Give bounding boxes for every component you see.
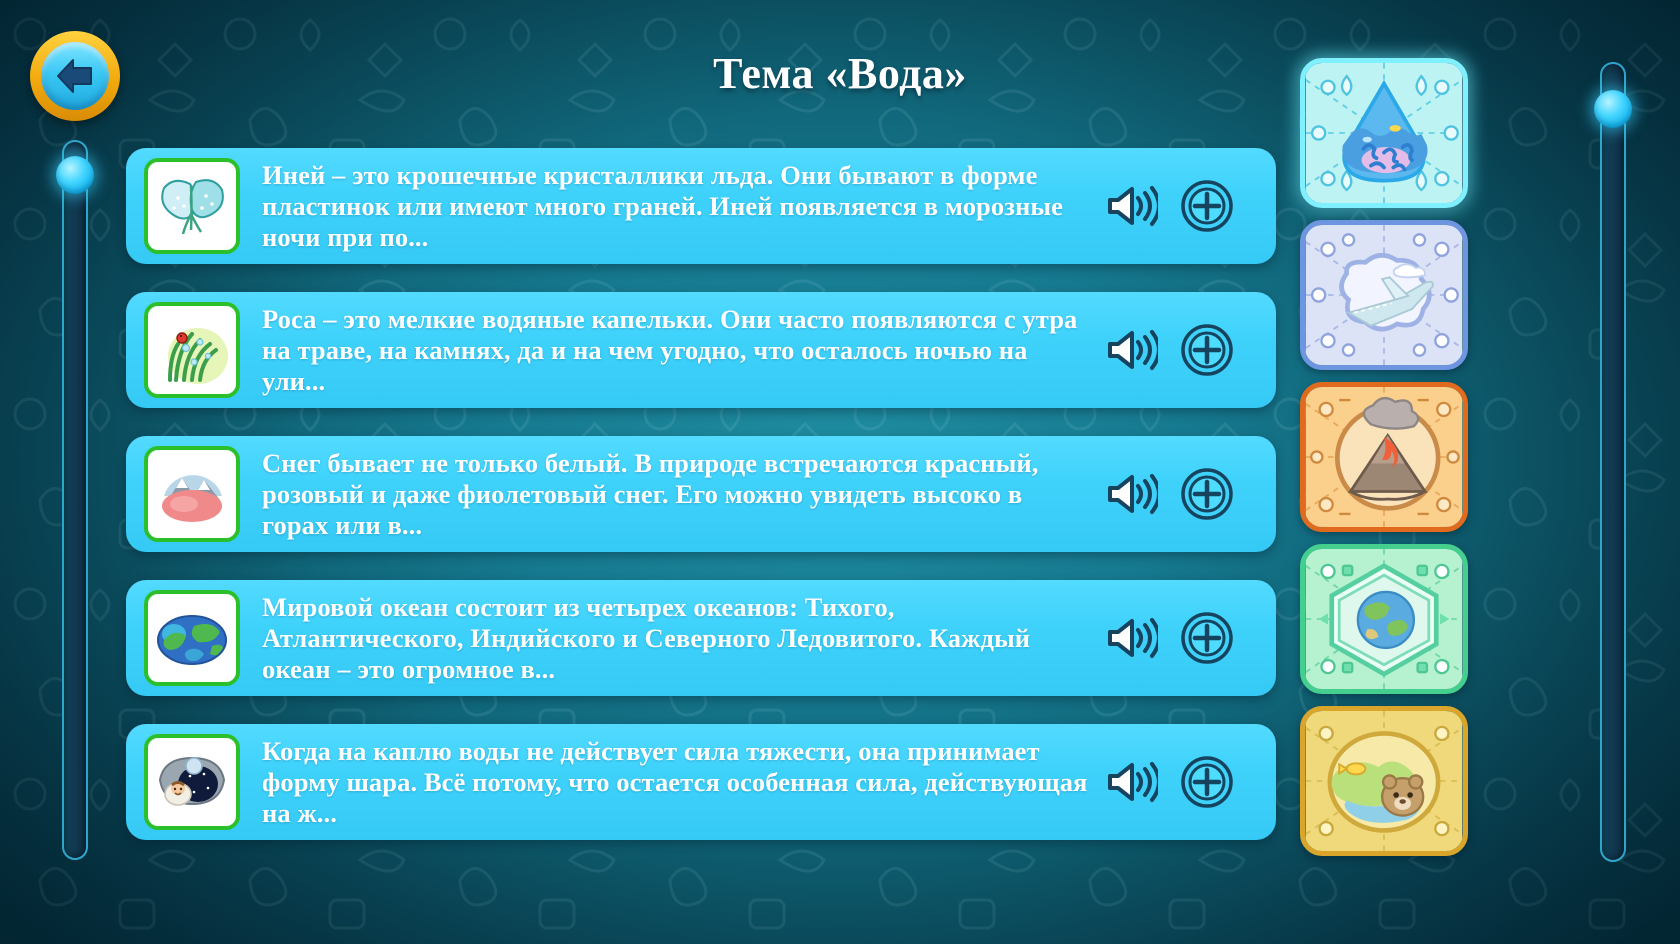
fact-thumbnail bbox=[144, 302, 240, 398]
add-button[interactable] bbox=[1180, 179, 1234, 233]
speaker-icon bbox=[1102, 470, 1158, 518]
volcano-topic-icon bbox=[1305, 387, 1463, 527]
fact-text: Мировой океан состоит из четырех океанов… bbox=[240, 592, 1102, 685]
plus-circle-icon bbox=[1180, 323, 1234, 377]
speaker-icon bbox=[1102, 614, 1158, 662]
add-button[interactable] bbox=[1180, 467, 1234, 521]
add-button[interactable] bbox=[1180, 755, 1234, 809]
plus-circle-icon bbox=[1180, 467, 1234, 521]
topic-tile-water[interactable] bbox=[1300, 58, 1468, 208]
globe-topic-icon bbox=[1305, 549, 1463, 689]
astronaut-spaceship-icon bbox=[150, 740, 234, 824]
fact-card[interactable]: Роса – это мелкие водяные капельки. Они … bbox=[126, 292, 1276, 408]
fact-card-actions bbox=[1102, 179, 1260, 233]
right-scrollbar[interactable] bbox=[1600, 62, 1626, 862]
fact-card-actions bbox=[1102, 467, 1260, 521]
add-button[interactable] bbox=[1180, 323, 1234, 377]
fact-text: Иней – это крошечные кристаллики льда. О… bbox=[240, 160, 1102, 253]
airplane-topic-icon bbox=[1305, 225, 1463, 365]
topic-tile-earth[interactable] bbox=[1300, 544, 1468, 694]
speaker-button[interactable] bbox=[1102, 326, 1158, 374]
left-scrollbar[interactable] bbox=[62, 140, 88, 860]
add-button[interactable] bbox=[1180, 611, 1234, 665]
fact-card[interactable]: Когда на каплю воды не действует сила тя… bbox=[126, 724, 1276, 840]
fact-card-actions bbox=[1102, 611, 1260, 665]
frost-leaves-icon bbox=[150, 164, 234, 248]
right-scrollbar-thumb[interactable] bbox=[1594, 90, 1632, 128]
dew-grass-icon bbox=[150, 308, 234, 392]
fact-card-actions bbox=[1102, 323, 1260, 377]
speaker-icon bbox=[1102, 758, 1158, 806]
topic-tile-animals[interactable] bbox=[1300, 706, 1468, 856]
fact-text: Снег бывает не только белый. В природе в… bbox=[240, 448, 1102, 541]
fact-card[interactable]: Снег бывает не только белый. В природе в… bbox=[126, 436, 1276, 552]
fact-thumbnail bbox=[144, 734, 240, 830]
fact-thumbnail bbox=[144, 446, 240, 542]
topic-tile-volcano[interactable] bbox=[1300, 382, 1468, 532]
animals-topic-icon bbox=[1305, 711, 1463, 851]
fact-text: Когда на каплю воды не действует сила тя… bbox=[240, 736, 1102, 829]
fact-text: Роса – это мелкие водяные капельки. Они … bbox=[240, 304, 1102, 397]
fact-card[interactable]: Иней – это крошечные кристаллики льда. О… bbox=[126, 148, 1276, 264]
topic-tile-air[interactable] bbox=[1300, 220, 1468, 370]
speaker-button[interactable] bbox=[1102, 470, 1158, 518]
plus-circle-icon bbox=[1180, 755, 1234, 809]
water-drop-topic-icon bbox=[1305, 63, 1463, 203]
topic-rail bbox=[1300, 58, 1480, 868]
earth-globe-icon bbox=[150, 596, 234, 680]
fact-card[interactable]: Мировой океан состоит из четырех океанов… bbox=[126, 580, 1276, 696]
speaker-button[interactable] bbox=[1102, 614, 1158, 662]
speaker-icon bbox=[1102, 182, 1158, 230]
fact-thumbnail bbox=[144, 590, 240, 686]
plus-circle-icon bbox=[1180, 179, 1234, 233]
left-scrollbar-thumb[interactable] bbox=[56, 156, 94, 194]
pink-snow-mountains-icon bbox=[150, 452, 234, 536]
fact-thumbnail bbox=[144, 158, 240, 254]
fact-card-actions bbox=[1102, 755, 1260, 809]
speaker-button[interactable] bbox=[1102, 758, 1158, 806]
speaker-icon bbox=[1102, 326, 1158, 374]
speaker-button[interactable] bbox=[1102, 182, 1158, 230]
plus-circle-icon bbox=[1180, 611, 1234, 665]
fact-card-list: Иней – это крошечные кристаллики льда. О… bbox=[126, 148, 1276, 868]
